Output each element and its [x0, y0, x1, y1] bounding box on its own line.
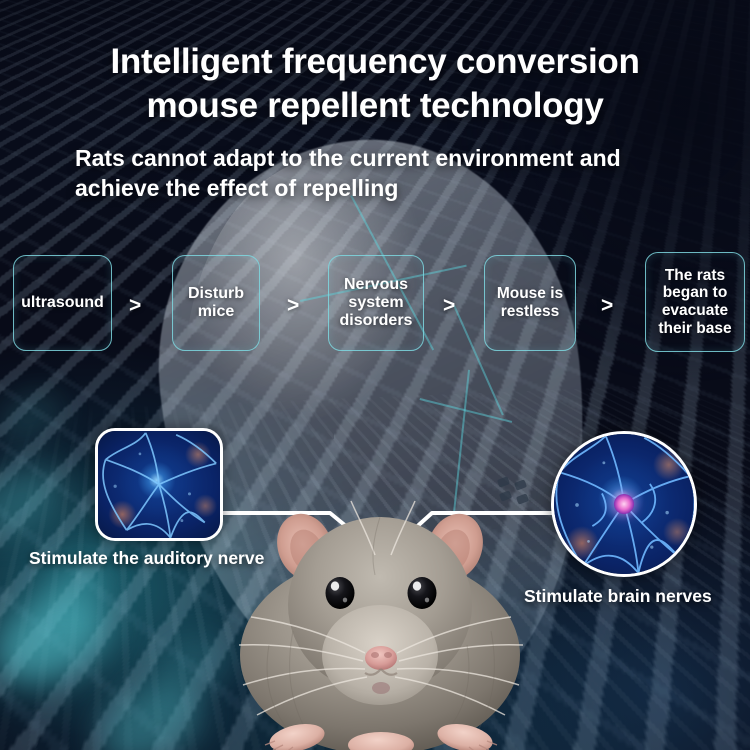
subtitle-line-2: achieve the effect of repelling	[75, 173, 695, 203]
flow-step-nervous-system: Nervous system disorders	[328, 255, 424, 351]
flow-step-mouse-restless: Mouse is restless	[484, 255, 576, 351]
rat-photo	[215, 495, 545, 750]
caption-brain-nerves: Stimulate brain nerves	[524, 586, 712, 607]
flow-step-ultrasound: ultrasound	[13, 255, 112, 351]
neuron-network-svg	[98, 431, 220, 539]
brain-nerves-image	[551, 431, 697, 577]
infographic-poster: Intelligent frequency conversion mouse r…	[0, 0, 750, 750]
title-line-1: Intelligent frequency conversion	[0, 40, 750, 84]
flow-arrow-icon: >	[129, 294, 141, 318]
flow-arrow-icon: >	[287, 294, 299, 318]
flow-arrow-icon: >	[443, 294, 455, 318]
title-line-2: mouse repellent technology	[0, 84, 750, 128]
subtitle-line-1: Rats cannot adapt to the current environ…	[75, 143, 695, 173]
flow-step-evacuate-base: The rats began to evacuate their base	[645, 252, 745, 352]
auditory-nerve-image	[95, 428, 223, 541]
page-subtitle: Rats cannot adapt to the current environ…	[75, 143, 695, 204]
neuron-nucleus	[614, 494, 634, 514]
page-title: Intelligent frequency conversion mouse r…	[0, 40, 750, 128]
flow-arrow-icon: >	[601, 294, 613, 318]
process-flow-row: ultrasound > Disturb mice > Nervous syst…	[0, 250, 750, 356]
flow-step-disturb-mice: Disturb mice	[172, 255, 260, 351]
